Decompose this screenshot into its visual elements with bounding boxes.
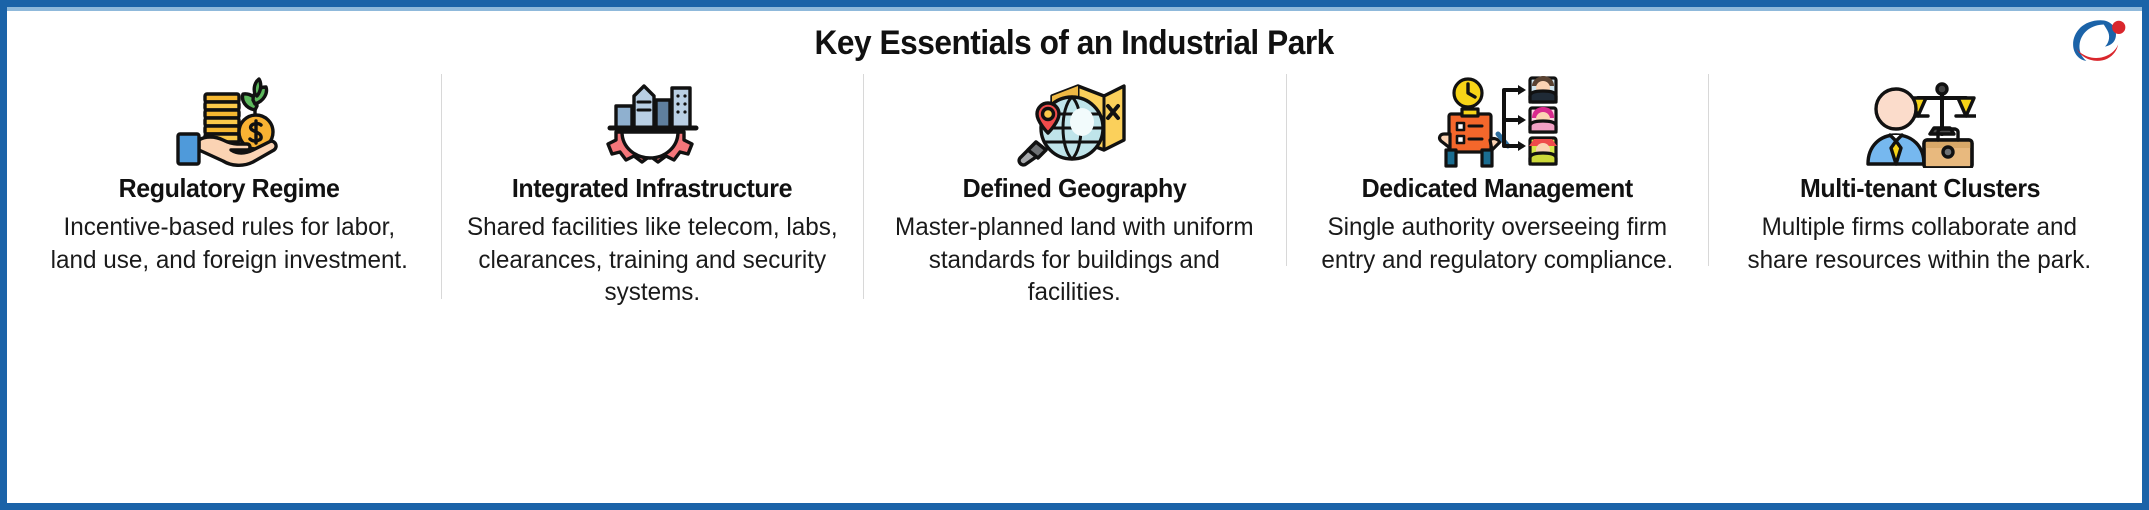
page-title: Key Essentials of an Industrial Park: [815, 24, 1334, 63]
buildings-gear-icon: [600, 74, 704, 170]
card-title: Integrated Infrastructure: [512, 174, 792, 203]
globe-map-magnifier-icon: [1016, 74, 1132, 170]
columns-container: Regulatory Regime Incentive-based rules …: [14, 72, 2135, 496]
clipboard-approval-people-icon: [1434, 74, 1560, 170]
column-regulatory-regime: Regulatory Regime Incentive-based rules …: [18, 72, 441, 276]
businessman-scales-briefcase-icon: [1864, 74, 1976, 170]
infographic-inner: Key Essentials of an Industrial Park: [14, 14, 2135, 496]
column-integrated-infrastructure: Integrated Infrastructure Shared facilit…: [441, 72, 864, 309]
column-multi-tenant-clusters: Multi-tenant Clusters Multiple firms col…: [1708, 72, 2131, 276]
hand-holding-coins-icon: [169, 74, 289, 170]
infographic-root: Key Essentials of an Industrial Park: [0, 0, 2149, 510]
card-description: Multiple firms collaborate and share res…: [1728, 211, 2111, 276]
card-title: Dedicated Management: [1362, 174, 1633, 203]
card-title: Defined Geography: [963, 174, 1187, 203]
card-description: Master-planned land with uniform standar…: [883, 211, 1266, 309]
column-dedicated-management: Dedicated Management Single authority ov…: [1286, 72, 1709, 276]
company-logo-icon: [2061, 12, 2127, 68]
top-accent-line: [7, 7, 2142, 11]
card-title: Regulatory Regime: [119, 174, 340, 203]
title-bar: Key Essentials of an Industrial Park: [14, 14, 2135, 72]
card-description: Incentive-based rules for labor, land us…: [38, 211, 421, 276]
card-title: Multi-tenant Clusters: [1800, 174, 2040, 203]
card-description: Single authority overseeing firm entry a…: [1306, 211, 1689, 276]
column-defined-geography: Defined Geography Master-planned land wi…: [863, 72, 1286, 309]
card-description: Shared facilities like telecom, labs, cl…: [461, 211, 844, 309]
